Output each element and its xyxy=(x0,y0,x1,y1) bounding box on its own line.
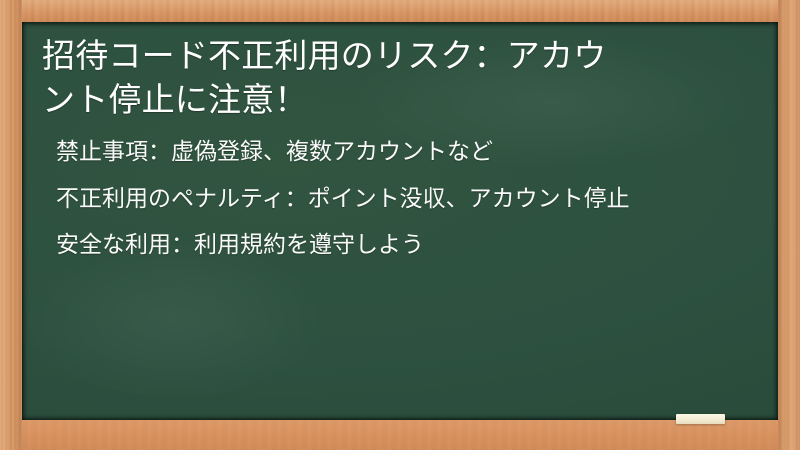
slide-content: 招待コード不正利用のリスク：アカウ ント停止に注意！ 禁止事項：虚偽登録、複数ア… xyxy=(22,22,778,420)
frame-right-rail xyxy=(778,0,800,450)
bullet-list: 禁止事項：虚偽登録、複数アカウントなど 不正利用のペナルティ：ポイント没収、アカ… xyxy=(36,135,754,261)
slide-title: 招待コード不正利用のリスク：アカウ ント停止に注意！ xyxy=(36,34,754,121)
frame-bottom-ledge xyxy=(0,420,800,450)
frame-left-rail xyxy=(0,0,22,450)
frame-top-rail xyxy=(0,0,800,22)
chalk-stick-icon xyxy=(676,414,725,424)
list-item: 安全な利用：利用規約を遵守しよう xyxy=(56,228,754,261)
list-item: 不正利用のペナルティ：ポイント没収、アカウント停止 xyxy=(56,182,754,215)
title-line-2: ント停止に注意！ xyxy=(42,81,308,118)
chalkboard-surface: 招待コード不正利用のリスク：アカウ ント停止に注意！ 禁止事項：虚偽登録、複数ア… xyxy=(22,22,778,420)
chalkboard-slide: 招待コード不正利用のリスク：アカウ ント停止に注意！ 禁止事項：虚偽登録、複数ア… xyxy=(0,0,800,450)
list-item: 禁止事項：虚偽登録、複数アカウントなど xyxy=(56,135,754,168)
title-line-1: 招待コード不正利用のリスク：アカウ xyxy=(42,37,606,74)
